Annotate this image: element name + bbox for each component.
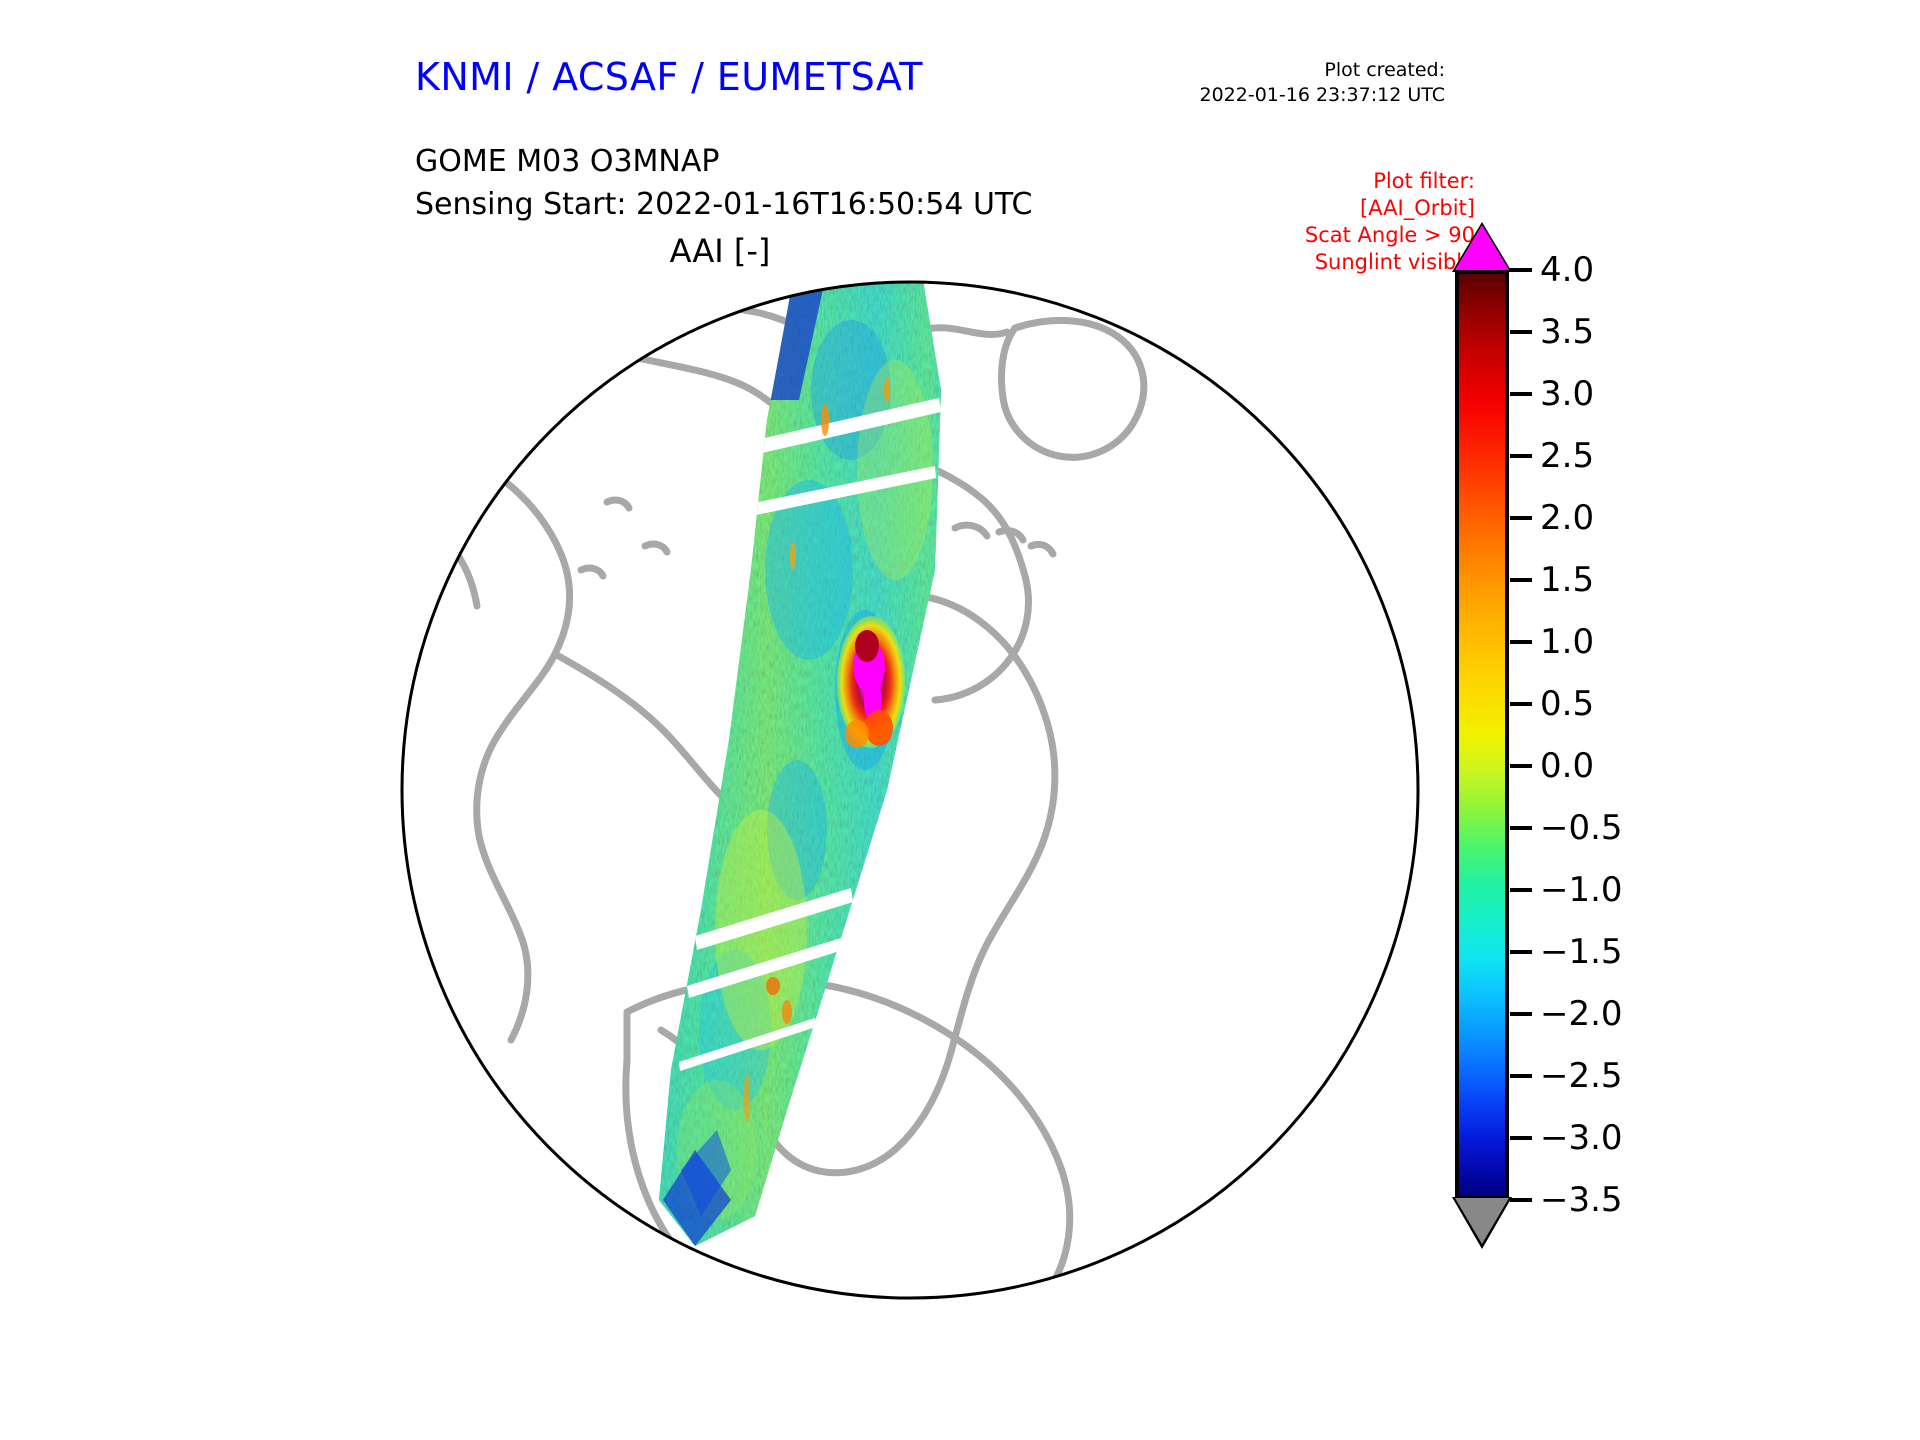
colorbar-tick (1510, 764, 1532, 768)
colorbar-tick-label: 2.0 (1540, 498, 1594, 538)
colorbar-tick (1510, 454, 1532, 458)
colorbar-tick-label: 3.5 (1540, 312, 1594, 352)
colorbar-tick-label: 3.0 (1540, 374, 1594, 414)
colorbar-tick (1510, 1136, 1532, 1140)
product-block: GOME M03 O3MNAP Sensing Start: 2022-01-1… (415, 140, 1032, 226)
globe-map (395, 270, 1425, 1310)
plot-filter-block: Plot filter: [AAI_Orbit] Scat Angle > 90… (1045, 168, 1475, 276)
colorbar-tick-label: −2.5 (1540, 1056, 1623, 1096)
colorbar-tick (1510, 268, 1532, 272)
colorbar-tick-label: 4.0 (1540, 250, 1594, 290)
colorbar-tick-label: −1.0 (1540, 870, 1623, 910)
organisation-title: KNMI / ACSAF / EUMETSAT (415, 55, 923, 99)
colorbar-tick (1510, 888, 1532, 892)
colorbar-tick-label: 1.0 (1540, 622, 1594, 662)
plot-filter-line-1: Scat Angle > 90 (1045, 222, 1475, 249)
map-panel (395, 270, 1425, 1310)
colorbar-tick (1510, 578, 1532, 582)
colorbar-tick (1510, 330, 1532, 334)
colorbar-tick (1510, 1012, 1532, 1016)
colorbar-gradient (1455, 270, 1509, 1200)
sensing-start: Sensing Start: 2022-01-16T16:50:54 UTC (415, 183, 1032, 226)
colorbar: 4.03.53.02.52.01.51.00.50.0−0.5−1.0−1.5−… (1440, 225, 1870, 1295)
colorbar-tick (1510, 950, 1532, 954)
colorbar-tick (1510, 516, 1532, 520)
colorbar-under-arrow (1455, 1198, 1509, 1244)
colorbar-tick (1510, 1074, 1532, 1078)
colorbar-tick-label: −3.0 (1540, 1118, 1623, 1158)
colorbar-tick-label: −2.0 (1540, 994, 1623, 1034)
colorbar-tick (1510, 826, 1532, 830)
anomaly-plume (837, 616, 905, 748)
product-name: GOME M03 O3MNAP (415, 140, 1032, 183)
colorbar-tick-label: −3.5 (1540, 1180, 1623, 1220)
colorbar-tick (1510, 702, 1532, 706)
plot-filter-line-0: [AAI_Orbit] (1045, 195, 1475, 222)
colorbar-tick-label: −1.5 (1540, 932, 1623, 972)
colorbar-tick (1510, 1198, 1532, 1202)
colorbar-over-arrow (1455, 225, 1509, 270)
plot-created-block: Plot created: 2022-01-16 23:37:12 UTC (1025, 58, 1445, 108)
colorbar-tick-label: 0.5 (1540, 684, 1594, 724)
colorbar-tick-label: −0.5 (1540, 808, 1623, 848)
plot-created-timestamp: 2022-01-16 23:37:12 UTC (1025, 83, 1445, 108)
colorbar-tick (1510, 640, 1532, 644)
plot-created-label: Plot created: (1025, 58, 1445, 83)
plot-filter-title: Plot filter: (1045, 168, 1475, 195)
colorbar-tick-label: 2.5 (1540, 436, 1594, 476)
colorbar-tick-label: 0.0 (1540, 746, 1594, 786)
colorbar-tick (1510, 392, 1532, 396)
plot-canvas: KNMI / ACSAF / EUMETSAT Plot created: 20… (0, 0, 1920, 1440)
colorbar-tick-label: 1.5 (1540, 560, 1594, 600)
